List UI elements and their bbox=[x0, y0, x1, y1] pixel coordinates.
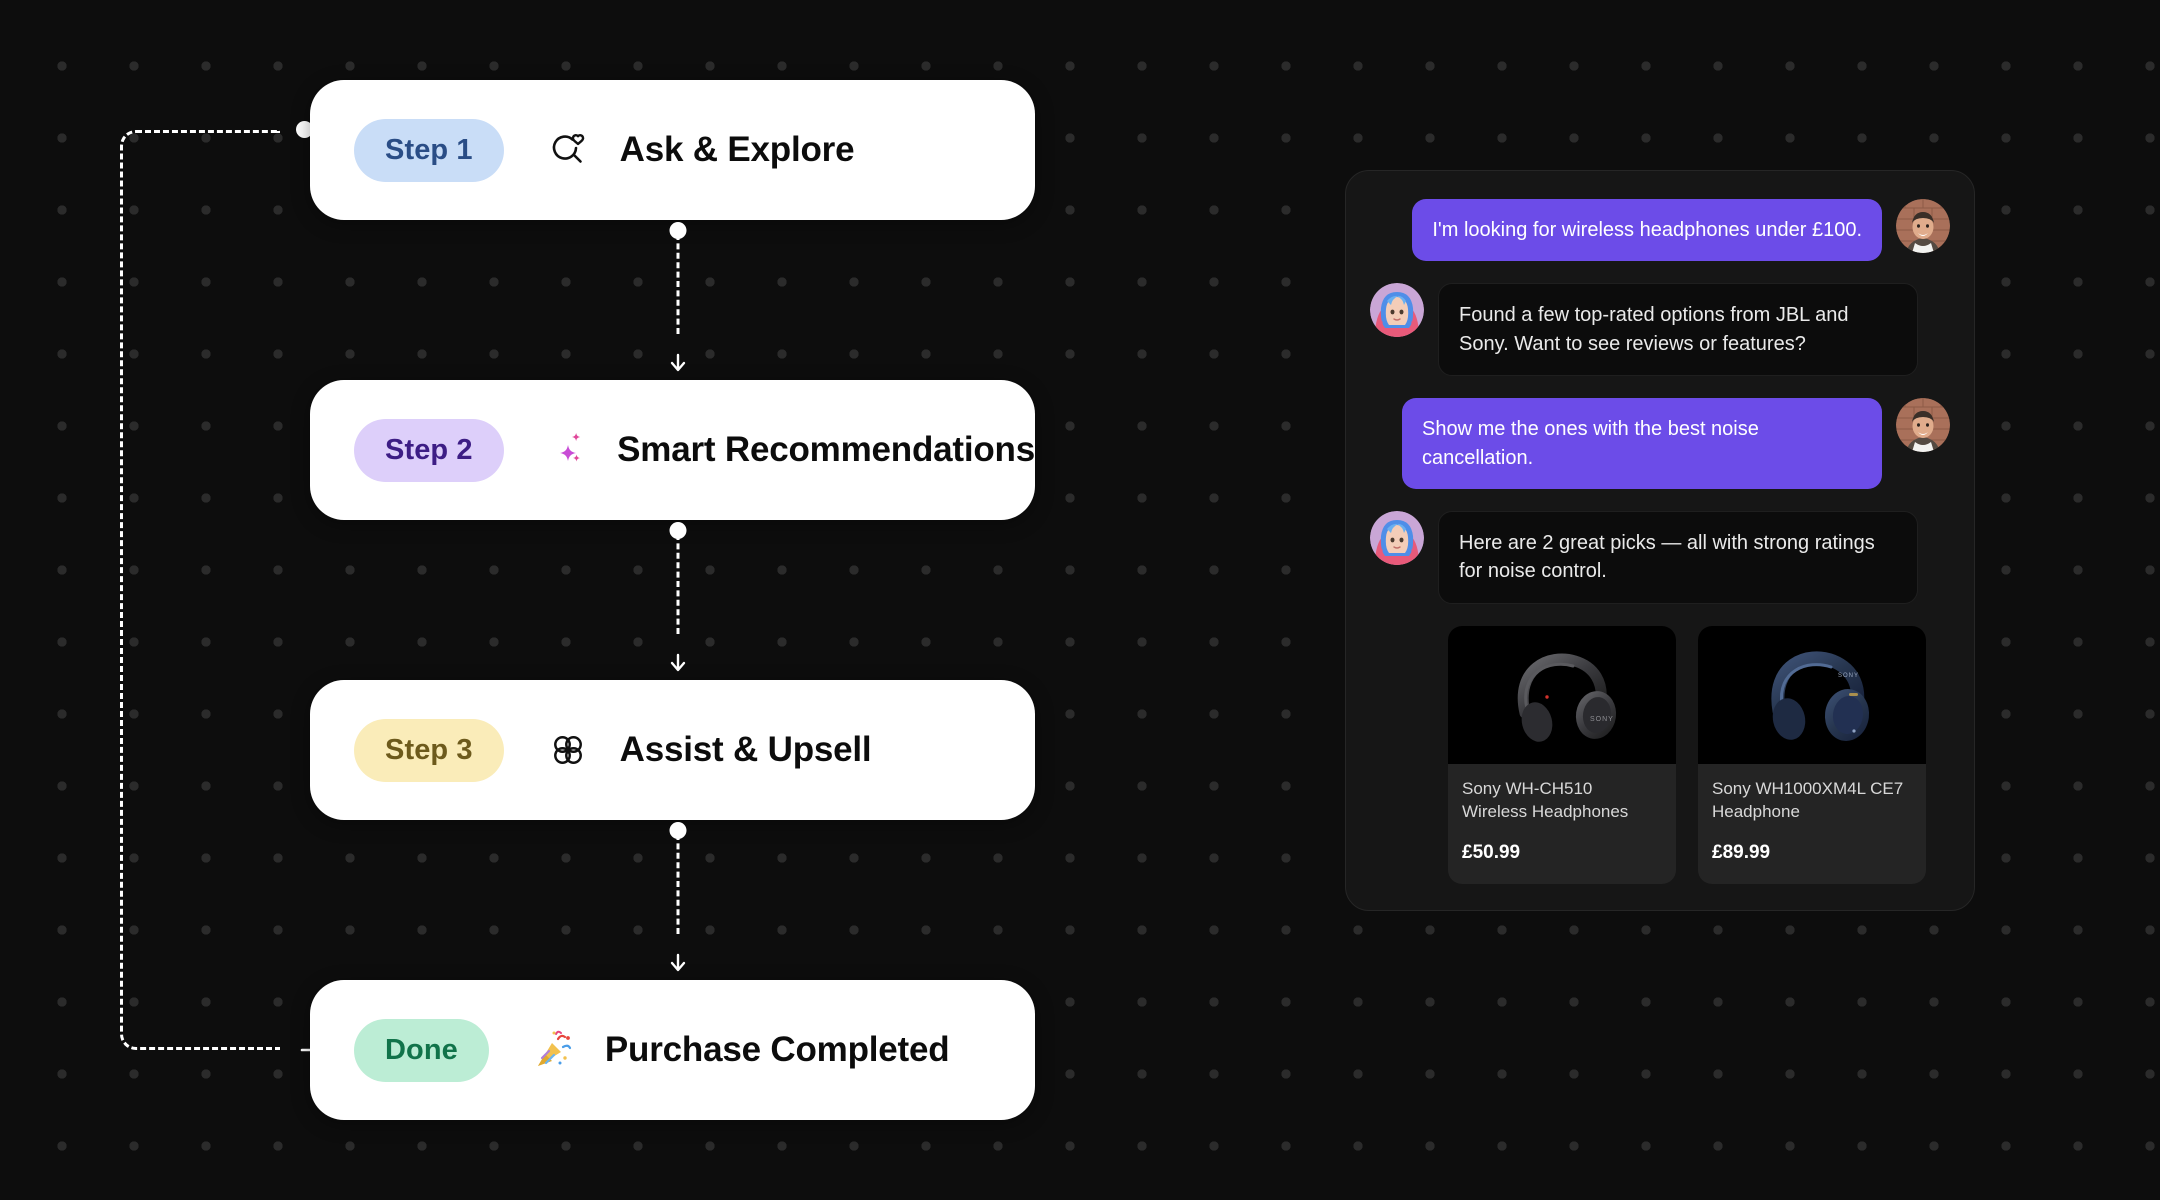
step-title-done: Purchase Completed bbox=[605, 1030, 950, 1070]
workflow-diagram: Step 1 Ask & Explore Step 2 bbox=[0, 0, 1060, 1200]
message-bubble: Show me the ones with the best noise can… bbox=[1402, 398, 1882, 489]
connector-step1-step2 bbox=[666, 222, 690, 374]
product-price: £50.99 bbox=[1462, 842, 1662, 864]
party-popper-icon bbox=[527, 1024, 579, 1076]
product-card-list: SONY Sony WH-CH510 Wireless Headphones £… bbox=[1370, 626, 1950, 884]
chat-message-bot-2: Here are 2 great picks — all with strong… bbox=[1370, 511, 1950, 604]
product-info: Sony WH1000XM4L CE7 Headphone £89.99 bbox=[1698, 764, 1926, 884]
product-name: Sony WH-CH510 Wireless Headphones bbox=[1462, 778, 1662, 824]
message-bubble: I'm looking for wireless headphones unde… bbox=[1412, 199, 1882, 261]
connector-arrow-icon bbox=[667, 352, 689, 374]
connector-step3-done bbox=[666, 822, 690, 974]
step-title-3: Assist & Upsell bbox=[620, 730, 872, 770]
step-card-done[interactable]: Done Purchase Completed bbox=[310, 980, 1035, 1120]
connector-dashed-line bbox=[677, 534, 680, 634]
step-badge-2: Step 2 bbox=[354, 419, 504, 482]
product-image-black-headphones: SONY bbox=[1448, 626, 1676, 764]
product-card[interactable]: SONY Sony WH1000XM4L CE7 Headphone £89.9… bbox=[1698, 626, 1926, 884]
chat-message-bot-1: Found a few top-rated options from JBL a… bbox=[1370, 283, 1950, 376]
canvas: Step 1 Ask & Explore Step 2 bbox=[0, 0, 2160, 1200]
product-card[interactable]: SONY Sony WH-CH510 Wireless Headphones £… bbox=[1448, 626, 1676, 884]
step-title-1: Ask & Explore bbox=[620, 130, 855, 170]
connector-dashed-line bbox=[677, 834, 680, 934]
step-badge-1: Step 1 bbox=[354, 119, 504, 182]
chat-message-user-2: Show me the ones with the best noise can… bbox=[1370, 398, 1950, 489]
product-name: Sony WH1000XM4L CE7 Headphone bbox=[1712, 778, 1912, 824]
user-avatar bbox=[1896, 199, 1950, 253]
connector-step2-step3 bbox=[666, 522, 690, 674]
product-info: Sony WH-CH510 Wireless Headphones £50.99 bbox=[1448, 764, 1676, 884]
connector-arrow-icon bbox=[667, 652, 689, 674]
step-card-2[interactable]: Step 2 Smart Recommendations bbox=[310, 380, 1035, 520]
clover-circles-icon bbox=[542, 724, 594, 776]
assistant-avatar bbox=[1370, 511, 1424, 565]
message-bubble: Here are 2 great picks — all with strong… bbox=[1438, 511, 1918, 604]
sparkles-icon bbox=[542, 424, 592, 476]
step-card-3[interactable]: Step 3 Assist & Upsell bbox=[310, 680, 1035, 820]
user-avatar bbox=[1896, 398, 1950, 452]
chat-message-user-1: I'm looking for wireless headphones unde… bbox=[1370, 199, 1950, 261]
product-price: £89.99 bbox=[1712, 842, 1912, 864]
search-heart-icon bbox=[542, 124, 594, 176]
loopback-connector bbox=[120, 130, 300, 1050]
assistant-avatar bbox=[1370, 283, 1424, 337]
svg-text:SONY: SONY bbox=[1590, 716, 1614, 723]
step-card-1[interactable]: Step 1 Ask & Explore bbox=[310, 80, 1035, 220]
connector-arrow-icon bbox=[667, 952, 689, 974]
svg-text:SONY: SONY bbox=[1838, 673, 1859, 679]
connector-dashed-line bbox=[677, 234, 680, 334]
step-badge-done: Done bbox=[354, 1019, 489, 1082]
chat-panel: I'm looking for wireless headphones unde… bbox=[1345, 170, 1975, 911]
loopback-dashed-path bbox=[120, 130, 280, 1050]
step-title-2: Smart Recommendations bbox=[617, 430, 1035, 470]
message-bubble: Found a few top-rated options from JBL a… bbox=[1438, 283, 1918, 376]
step-badge-3: Step 3 bbox=[354, 719, 504, 782]
product-image-navy-headphones: SONY bbox=[1698, 626, 1926, 764]
